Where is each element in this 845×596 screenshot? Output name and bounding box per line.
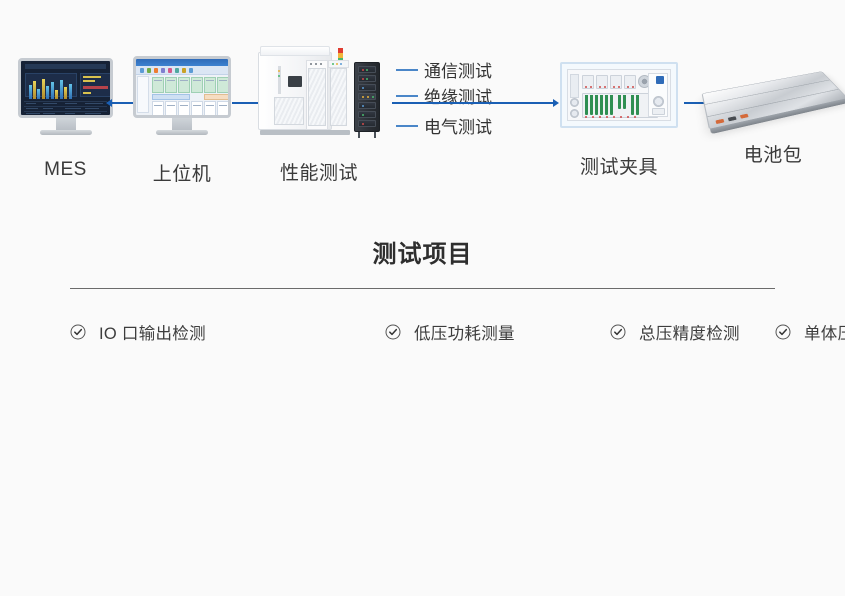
test-item: 总压精度检测 [610, 312, 775, 352]
monitor-dark-dashboard-icon [18, 58, 113, 135]
check-circle-icon [775, 324, 791, 340]
test-fixture-rack-icon [560, 62, 678, 128]
section-divider [70, 288, 775, 289]
flow-node-mes: MES [18, 58, 113, 181]
section-title: 测试项目 [0, 234, 845, 269]
battery-pack-icon [700, 56, 845, 134]
flow-node-performance: 性能测试 [258, 42, 380, 185]
flow-node-host: 上位机 [133, 56, 231, 186]
flow-node-fixture: 测试夹具 [560, 62, 678, 179]
test-items-grid: IO 口输出检测 低压功耗测量 总压精度检测 单体压差检测 [70, 312, 775, 352]
check-circle-icon [70, 324, 86, 340]
flow-node-label-performance: 性能测试 [258, 158, 380, 185]
branch-dash-icon [396, 95, 418, 97]
branch-label: 绝缘测试 [424, 83, 492, 108]
branch-dash-icon [396, 69, 418, 71]
test-item-label: 总压精度检测 [639, 320, 740, 344]
flow-node-label-host: 上位机 [133, 159, 231, 186]
check-circle-icon [610, 324, 626, 340]
branch-item-insulation-test: 绝缘测试 [396, 83, 492, 108]
monitor-light-software-icon [133, 56, 231, 135]
page-root: MES [0, 0, 845, 596]
flow-node-label-fixture: 测试夹具 [560, 152, 678, 179]
check-circle-icon [385, 324, 401, 340]
process-flow-diagram: MES [0, 0, 845, 200]
test-item-label: 单体压差检测 [804, 320, 845, 344]
test-item: 单体压差检测 [775, 312, 845, 352]
branch-item-communication-test: 通信测试 [396, 57, 492, 82]
flow-node-battery: 电池包 [700, 56, 845, 167]
flow-node-label-battery: 电池包 [700, 140, 845, 167]
test-item-label: 低压功耗测量 [414, 320, 515, 344]
test-item-label: IO 口输出检测 [99, 320, 206, 344]
branch-label: 电气测试 [424, 113, 492, 138]
flow-node-label-mes: MES [18, 159, 113, 181]
branch-item-electrical-test: 电气测试 [396, 113, 492, 138]
test-item: 低压功耗测量 [385, 312, 610, 352]
test-item: IO 口输出检测 [70, 312, 385, 352]
test-cabinet-icon [258, 42, 380, 142]
branch-label: 通信测试 [424, 57, 492, 82]
branch-dash-icon [396, 125, 418, 127]
